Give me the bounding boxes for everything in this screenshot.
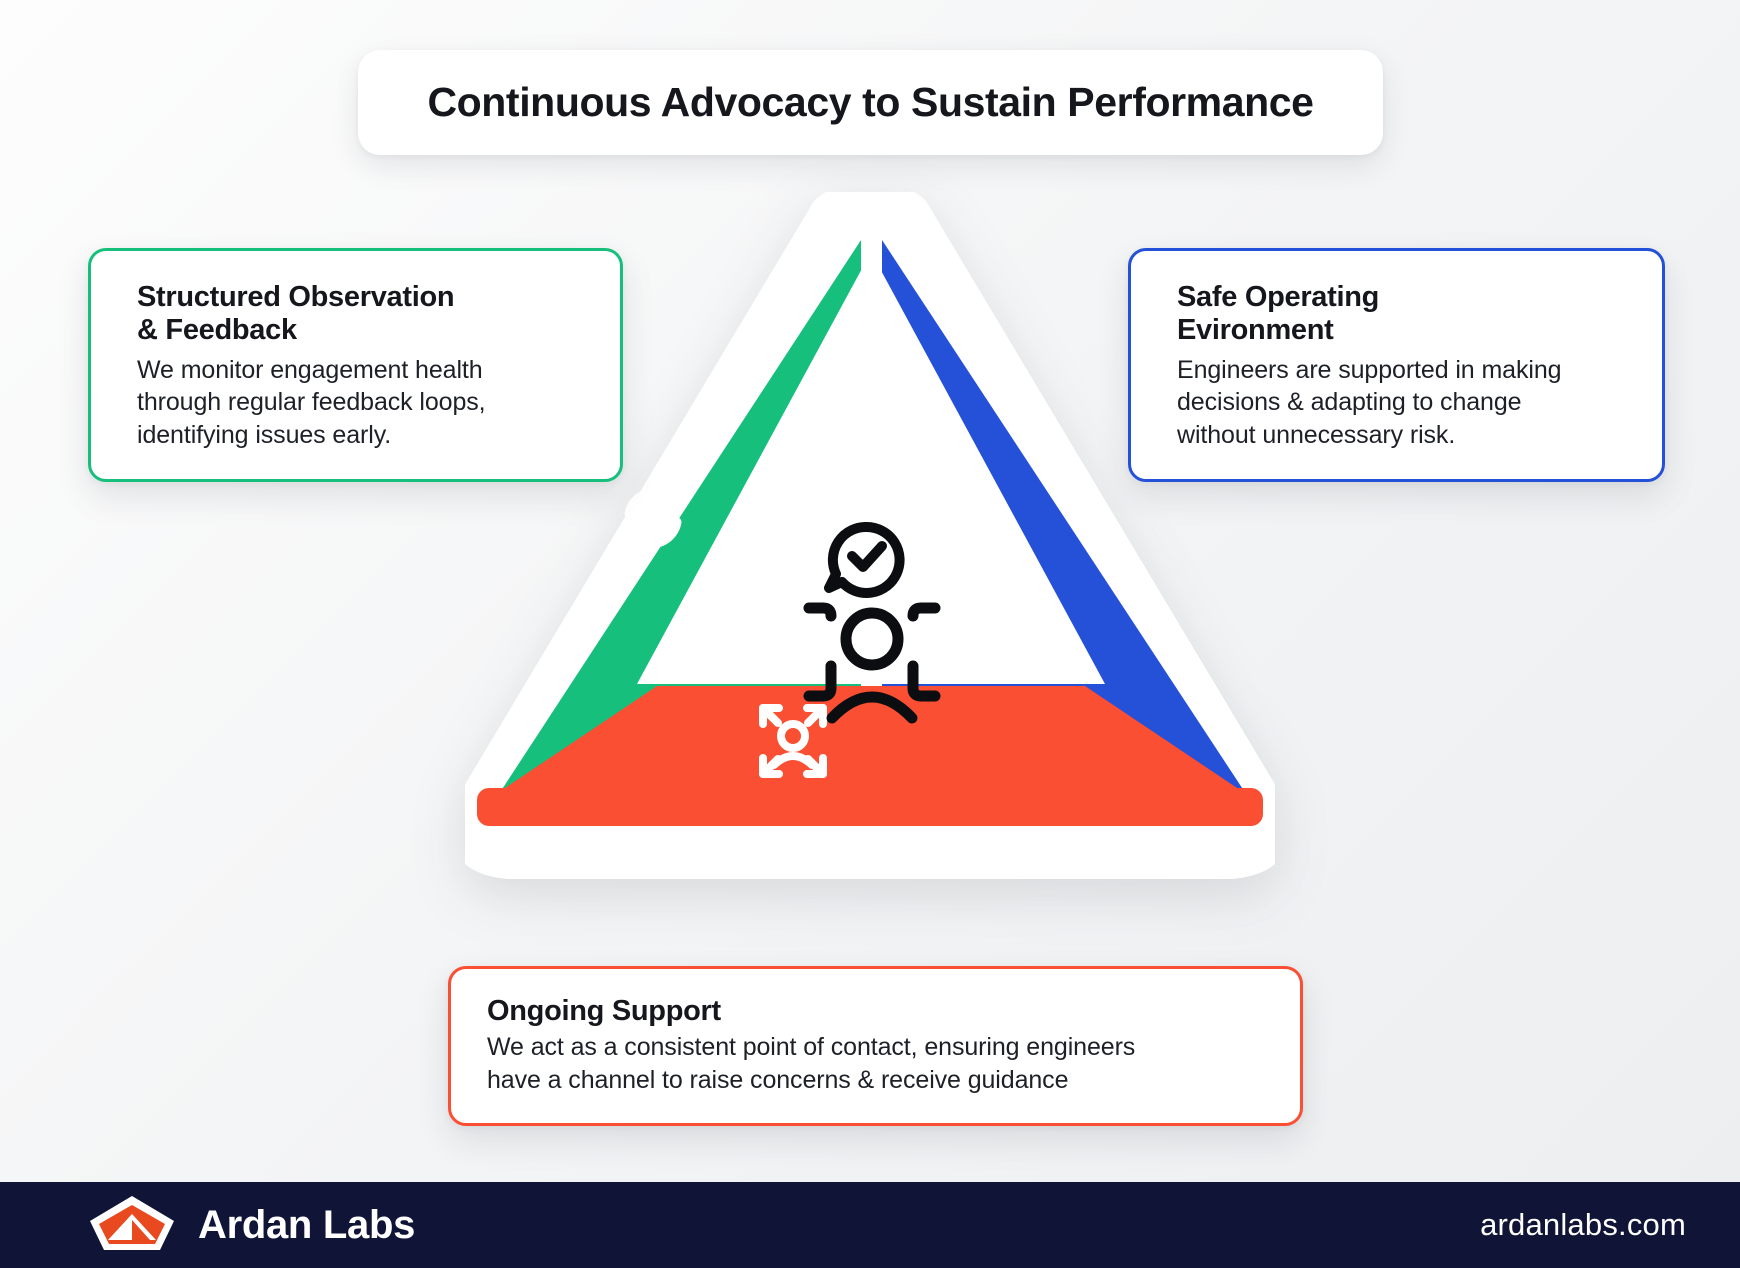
- infographic-page: Continuous Advocacy to Sustain Performan…: [0, 0, 1740, 1268]
- card-body: Engineers are supported in making decisi…: [1177, 354, 1628, 452]
- card-title: Safe Operating Evironment: [1177, 281, 1628, 347]
- card-title: Structured Observation & Feedback: [137, 281, 586, 347]
- card-body: We act as a consistent point of contact,…: [487, 1031, 1266, 1098]
- card-body: We monitor engagement health through reg…: [137, 354, 586, 452]
- ardan-labs-logo-icon: [86, 1192, 178, 1259]
- chat-check-icon: [829, 527, 900, 593]
- brand-name: Ardan Labs: [198, 1203, 415, 1248]
- people-group-icon: [809, 608, 935, 718]
- card-ongoing-support[interactable]: Ongoing Support We act as a consistent p…: [448, 966, 1303, 1126]
- card-safe-operating-evironment[interactable]: Safe Operating Evironment Engineers are …: [1128, 248, 1665, 482]
- title-card: Continuous Advocacy to Sustain Performan…: [358, 50, 1383, 155]
- page-title: Continuous Advocacy to Sustain Performan…: [427, 79, 1313, 126]
- card-structured-observation-feedback[interactable]: Structured Observation & Feedback We mon…: [88, 248, 623, 482]
- center-icon-group: [747, 522, 997, 732]
- footer-url[interactable]: ardanlabs.com: [1480, 1207, 1686, 1243]
- card-title: Ongoing Support: [487, 995, 1266, 1028]
- brand-lockup[interactable]: Ardan Labs: [86, 1192, 415, 1259]
- footer-bar: Ardan Labs ardanlabs.com: [0, 1182, 1740, 1268]
